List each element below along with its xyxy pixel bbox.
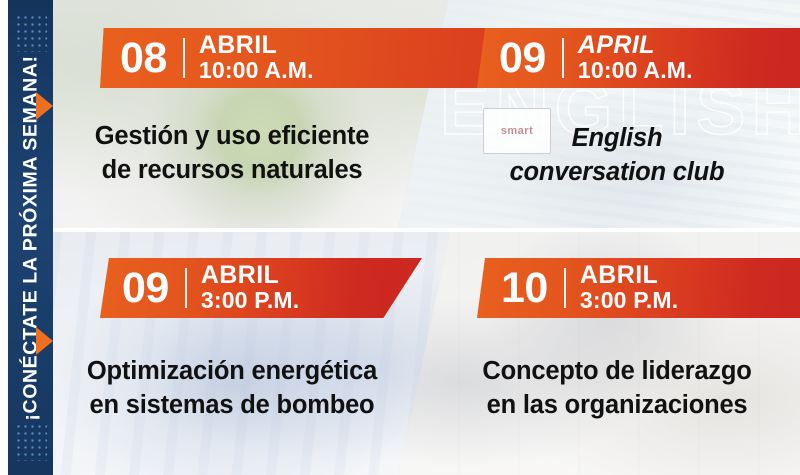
event-card-1-title-line-1: Gestión y uso eficiente — [62, 120, 402, 154]
event-card-1-title: Gestión y uso eficiente de recursos natu… — [62, 120, 402, 187]
event-card-1-divider — [183, 38, 185, 78]
event-card-1-month: ABRIL — [199, 33, 314, 59]
event-card-2-time: 10:00 A.M. — [578, 58, 693, 83]
event-card-4-divider — [564, 268, 566, 308]
event-card-3-month: ABRIL — [201, 263, 300, 289]
event-card-4-title-line-1: Concepto de liderazgo — [452, 355, 782, 389]
event-card-2-title-line-2: conversation club — [452, 156, 782, 190]
event-card-2-divider — [562, 38, 564, 78]
row-divider — [52, 228, 800, 232]
event-card-3-divider — [185, 268, 187, 308]
event-schedule-poster: ENGLISH smart 08 ABRIL 10:00 A.M. 09 — [0, 0, 800, 475]
event-card-4-time: 3:00 P.M. — [580, 288, 679, 313]
event-card-4-title-line-2: en las organizaciones — [452, 389, 782, 423]
dot-pattern-bottom-icon — [15, 423, 47, 461]
event-card-2-month: APRIL — [578, 33, 693, 59]
triangle-right-icon-bottom — [36, 327, 53, 355]
event-card-3-title: Optimización energética en sistemas de b… — [58, 355, 406, 422]
event-card-4-month: ABRIL — [580, 263, 679, 289]
event-card-3-time: 3:00 P.M. — [201, 288, 300, 313]
side-banner: ¡CONÉCTATE LA PRÓXIMA SEMANA! — [8, 0, 53, 475]
triangle-right-icon-top — [36, 92, 53, 120]
event-card-2-date-banner: 09 APRIL 10:00 A.M. — [477, 28, 800, 88]
event-card-3-day: 09 — [122, 267, 169, 310]
event-card-2-day: 09 — [499, 37, 546, 80]
event-card-3-title-line-2: en sistemas de bombeo — [58, 389, 406, 423]
event-card-1-time: 10:00 A.M. — [199, 58, 314, 83]
dot-pattern-top-icon — [15, 14, 47, 52]
event-card-3-title-line-1: Optimización energética — [58, 355, 406, 389]
event-card-2-title: English conversation club — [452, 122, 782, 189]
event-card-4-date-banner: 10 ABRIL 3:00 P.M. — [477, 258, 800, 318]
event-card-2-title-line-1: English — [452, 122, 782, 156]
event-card-1-day: 08 — [120, 37, 167, 80]
event-card-3-date-banner: 09 ABRIL 3:00 P.M. — [100, 258, 422, 318]
event-card-4-day: 10 — [501, 267, 548, 310]
event-card-1-title-line-2: de recursos naturales — [62, 154, 402, 188]
event-card-4-title: Concepto de liderazgo en las organizacio… — [452, 355, 782, 422]
